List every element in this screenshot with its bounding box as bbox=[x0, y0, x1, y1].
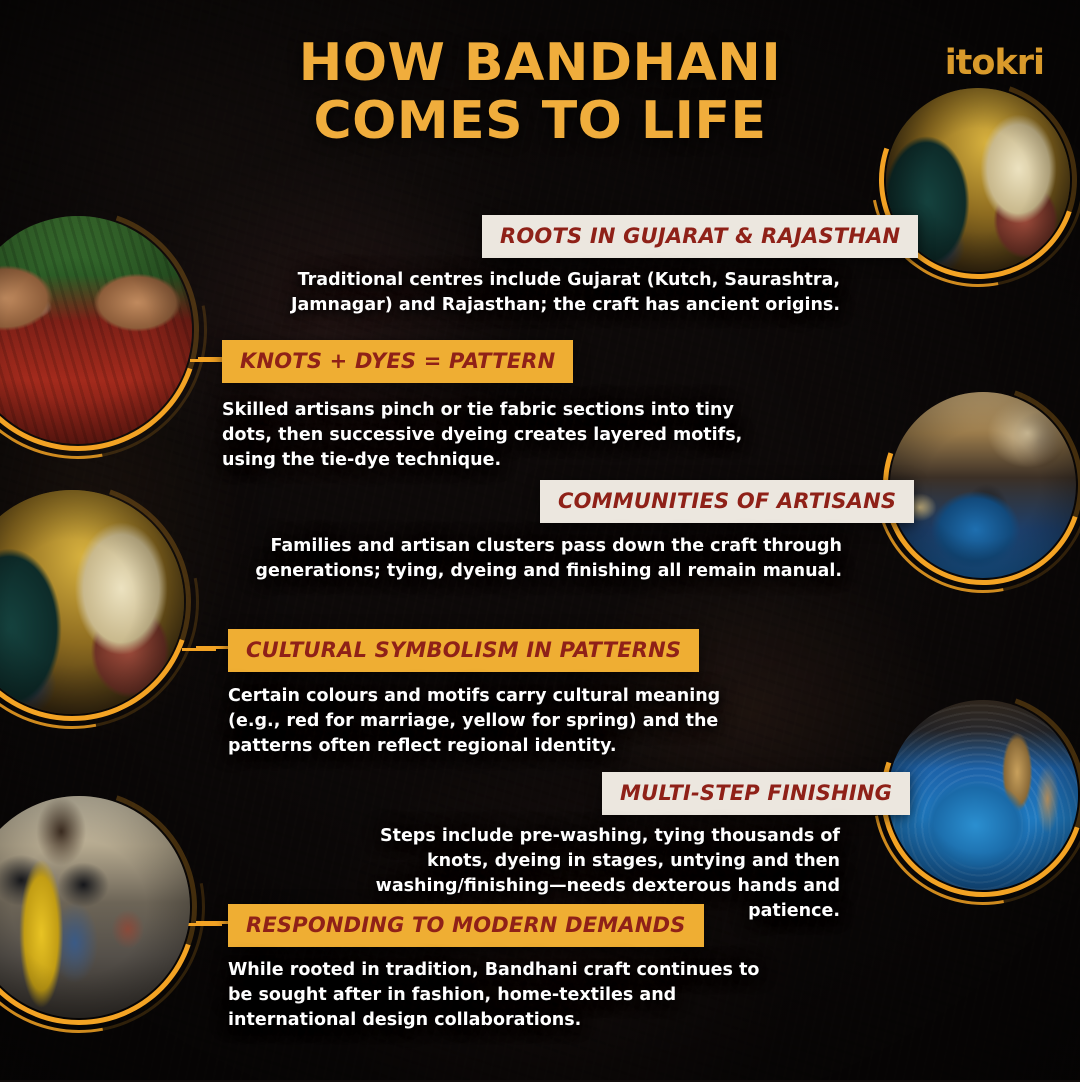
section-badge-cultural-symbolism-in-patterns[interactable]: CULTURAL SYMBOLISM IN PATTERNS bbox=[228, 629, 699, 672]
section-body-knots-dyes-pattern: Skilled artisans pinch or tie fabric sec… bbox=[222, 398, 762, 473]
photo-6-vignette bbox=[0, 796, 190, 1018]
section-badge-responding-to-modern-demands[interactable]: RESPONDING TO MODERN DEMANDS bbox=[228, 904, 704, 947]
itokri-logo[interactable]: itokri bbox=[926, 40, 1044, 86]
badge-connector-6 bbox=[196, 921, 228, 924]
photo-indigo-dye-vat-with-yellow-cloth bbox=[888, 700, 1078, 890]
section-badge-multi-step-finishing[interactable]: MULTI-STEP FINISHING bbox=[602, 772, 910, 815]
page-title: HOW BANDHANI COMES TO LIFE bbox=[0, 34, 1080, 150]
photo-women-tying-fabric-outdoors bbox=[0, 490, 184, 714]
section-badge-communities-of-artisans[interactable]: COMMUNITIES OF ARTISANS bbox=[540, 480, 914, 523]
photo-4-vignette bbox=[0, 490, 184, 714]
photo-hands-tying-red-fabric bbox=[0, 216, 192, 444]
section-body-roots-in-gujarat-rajasthan: Traditional centres include Gujarat (Kut… bbox=[260, 268, 840, 318]
section-body-cultural-symbolism-in-patterns: Certain colours and motifs carry cultura… bbox=[228, 684, 768, 759]
badge-connector-4 bbox=[196, 646, 228, 649]
section-body-communities-of-artisans: Families and artisan clusters pass down … bbox=[240, 534, 842, 584]
photo-3-vignette bbox=[890, 392, 1076, 578]
itokri-logo-text: itokri bbox=[926, 40, 1044, 86]
badge-connector-2 bbox=[198, 357, 222, 360]
photo-5-vignette bbox=[888, 700, 1078, 890]
photo-artisan-lifting-yellow-dyed-skein bbox=[0, 796, 190, 1018]
photo-artisan-dyeing-in-blue-tub bbox=[890, 392, 1076, 578]
page-title-line-2: COMES TO LIFE bbox=[0, 92, 1080, 150]
section-badge-knots-dyes-pattern[interactable]: KNOTS + DYES = PATTERN bbox=[222, 340, 573, 383]
section-badge-roots-in-gujarat-rajasthan[interactable]: ROOTS IN GUJARAT & RAJASTHAN bbox=[482, 215, 918, 258]
section-body-responding-to-modern-demands: While rooted in tradition, Bandhani craf… bbox=[228, 958, 776, 1033]
page-title-line-1: HOW BANDHANI bbox=[0, 34, 1080, 92]
photo-2-vignette bbox=[0, 216, 192, 444]
